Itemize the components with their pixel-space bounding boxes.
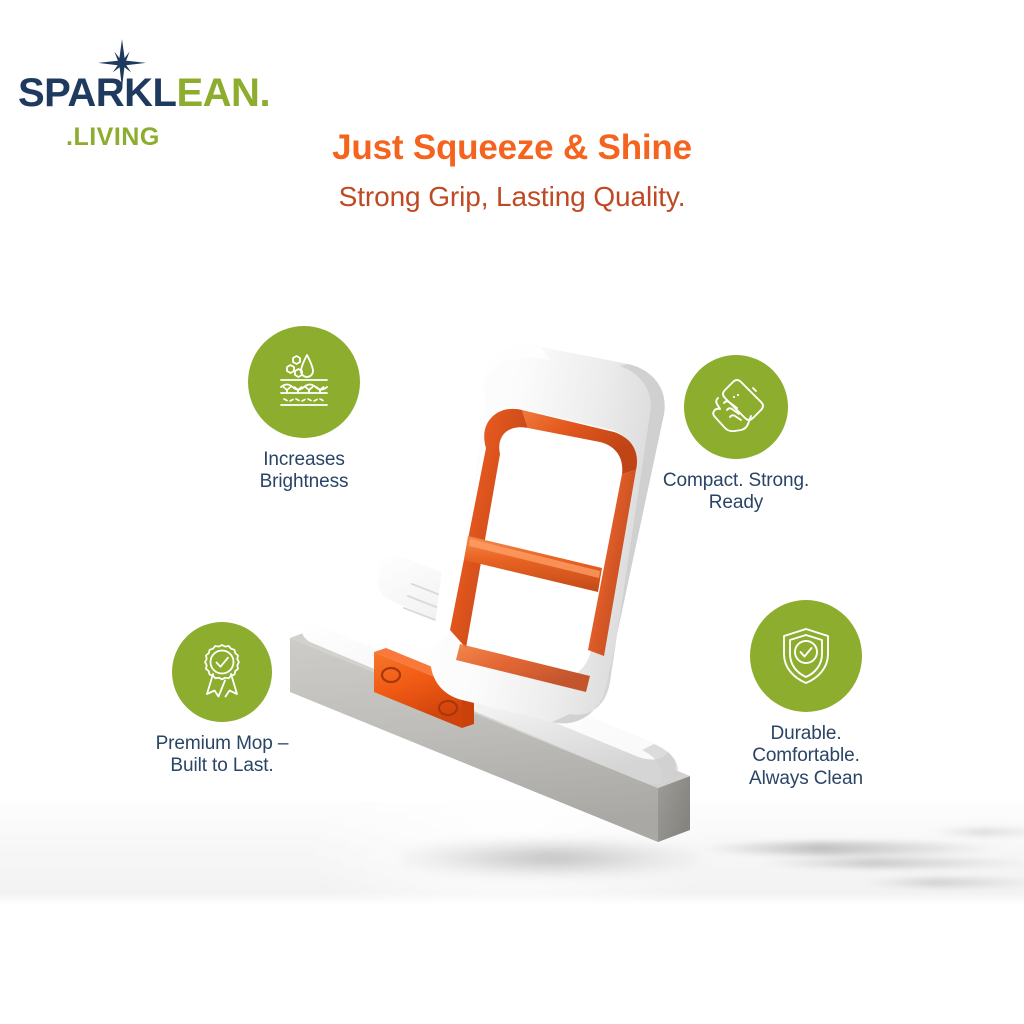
badge-circle — [172, 622, 272, 722]
feature-badge-durable-comfortable-always-clean: Durable. Comfortable. Always Clean — [706, 600, 906, 790]
floor-streak-marks — [760, 858, 1024, 868]
feature-badge-increases-brightness: Increases Brightness — [204, 326, 404, 494]
floor-streak-marks — [700, 842, 1000, 855]
badge-circle — [750, 600, 862, 712]
feature-badge-compact-strong-ready: Compact. Strong. Ready — [636, 355, 836, 515]
water-droplet-absorb-icon — [271, 349, 337, 415]
shield-check-icon — [774, 624, 838, 688]
marketing-banner: SPARKLEAN. .LIVING Just Squeeze & Shine … — [0, 0, 1024, 1024]
logo-wordmark-part1: SPARKL — [18, 71, 176, 115]
page-headline: Just Squeeze & Shine — [0, 128, 1024, 168]
hand-holding-cloth-icon — [705, 376, 767, 438]
badge-label: Durable. Comfortable. Always Clean — [706, 723, 906, 790]
page-subheadline: Strong Grip, Lasting Quality. — [0, 181, 1024, 213]
logo-wordmark: SPARKLEAN. — [18, 73, 270, 113]
award-ribbon-check-icon — [191, 641, 253, 703]
logo-wordmark-part2: EAN. — [176, 71, 270, 115]
badge-circle — [684, 355, 788, 459]
badge-label: Premium Mop – Built to Last. — [122, 733, 322, 778]
badge-circle — [248, 326, 360, 438]
feature-badge-premium-mop-built-to-last: Premium Mop – Built to Last. — [122, 622, 322, 778]
badge-label: Compact. Strong. Ready — [636, 470, 836, 515]
badge-label: Increases Brightness — [204, 449, 404, 494]
brand-logo: SPARKLEAN. .LIVING — [18, 33, 248, 139]
